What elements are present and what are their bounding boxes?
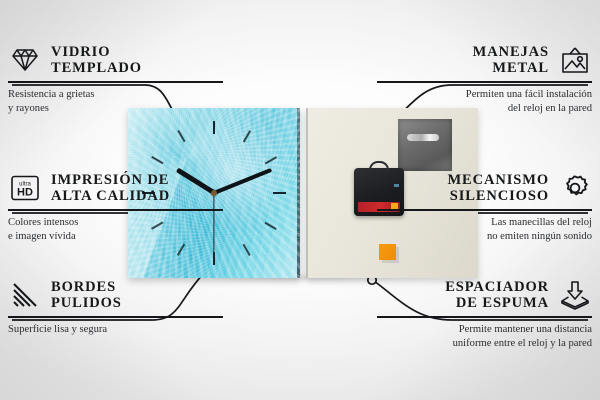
- metal-hanger-plate: [398, 119, 452, 171]
- feature-subtitle: Las manecillas del relojno emiten ningún…: [377, 216, 592, 244]
- svg-text:HD: HD: [17, 187, 33, 199]
- feature-heading: ultra HD IMPRESIÓN DEALTA CALIDAD: [8, 172, 223, 204]
- feature-mecanismo-silencioso: MECANISMOSILENCIOSO Las manecillas del r…: [377, 172, 592, 244]
- feature-vidrio-templado: VIDRIOTEMPLADO Resistencia a grietasy ra…: [8, 44, 223, 116]
- feature-divider: [8, 81, 223, 83]
- feature-title: MECANISMOSILENCIOSO: [447, 172, 549, 204]
- feature-title: VIDRIOTEMPLADO: [51, 44, 142, 76]
- feature-subtitle: Permiten una fácil instalacióndel reloj …: [377, 88, 592, 116]
- polished-edge-icon: [8, 279, 42, 311]
- feature-heading: MANEJASMETAL: [377, 44, 592, 76]
- diamond-icon: [8, 44, 42, 76]
- feature-heading: ESPACIADORDE ESPUMA: [377, 279, 592, 311]
- feature-title: MANEJASMETAL: [473, 44, 549, 76]
- hanger-slot: [407, 134, 439, 141]
- picture-frame-hanger-icon: [558, 44, 592, 76]
- foam-spacer: [379, 244, 396, 260]
- gear-icon: [558, 172, 592, 204]
- feature-divider: [8, 316, 223, 318]
- feature-subtitle: Colores intensose imagen vívida: [8, 216, 223, 244]
- feature-bordes-pulidos: BORDESPULIDOS Superficie lisa y segura: [8, 279, 223, 337]
- ultra-hd-icon: ultra HD: [8, 172, 42, 204]
- feature-heading: MECANISMOSILENCIOSO: [377, 172, 592, 204]
- feature-heading: BORDESPULIDOS: [8, 279, 223, 311]
- mechanism-hook: [369, 161, 389, 172]
- feature-impresion-alta-calidad: ultra HD IMPRESIÓN DEALTA CALIDAD Colore…: [8, 172, 223, 244]
- feature-heading: VIDRIOTEMPLADO: [8, 44, 223, 76]
- infographic-canvas: VIDRIOTEMPLADO Resistencia a grietasy ra…: [0, 0, 600, 400]
- feature-title: ESPACIADORDE ESPUMA: [445, 279, 549, 311]
- clock-tick: [213, 121, 215, 134]
- feature-espaciador-espuma: ESPACIADORDE ESPUMA Permite mantener una…: [377, 279, 592, 351]
- foam-spacer-icon: [558, 279, 592, 311]
- feature-divider: [8, 209, 223, 211]
- feature-divider: [377, 316, 592, 318]
- feature-manejas-metal: MANEJASMETAL Permiten una fácil instalac…: [377, 44, 592, 116]
- clock-tick: [273, 192, 286, 194]
- feature-subtitle: Resistencia a grietasy rayones: [8, 88, 223, 116]
- feature-divider: [377, 209, 592, 211]
- feature-subtitle: Superficie lisa y segura: [8, 323, 223, 337]
- feature-title: BORDESPULIDOS: [51, 279, 122, 311]
- feature-subtitle: Permite mantener una distanciauniforme e…: [377, 323, 592, 351]
- feature-title: IMPRESIÓN DEALTA CALIDAD: [51, 172, 170, 204]
- feature-divider: [377, 81, 592, 83]
